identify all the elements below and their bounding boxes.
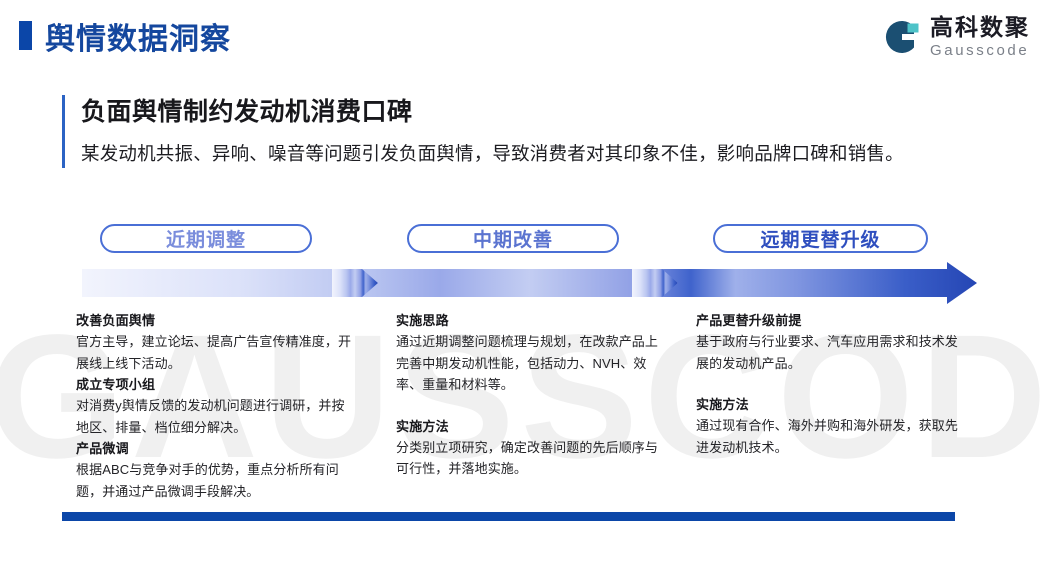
content-section: 实施方法 分类别立项研究，确定改善问题的先后顺序与可行性，并落地实施。: [396, 416, 658, 480]
stage-content-column-mid-term: 实施思路 通过近期调整问题梳理与规划，在改款产品上完善中期发动机性能，包括动力、…: [396, 310, 658, 480]
stage-pill-mid-term[interactable]: 中期改善: [407, 224, 619, 253]
section-body: 官方主导，建立论坛、提高广告宣传精准度，开展线上线下活动。: [76, 331, 354, 374]
footer-accent-bar: [62, 512, 955, 521]
content-section: 改善负面舆情 官方主导，建立论坛、提高广告宣传精准度，开展线上线下活动。: [76, 310, 354, 374]
stage-pill-label: 中期改善: [473, 225, 553, 252]
stage-content-column-near-term: 改善负面舆情 官方主导，建立论坛、提高广告宣传精准度，开展线上线下活动。 成立专…: [76, 310, 354, 502]
section-title: 实施方法: [396, 416, 658, 437]
content-section: 产品更替升级前提 基于政府与行业要求、汽车应用需求和技术发展的发动机产品。: [696, 310, 958, 374]
page-title: 舆情数据洞察: [45, 14, 231, 58]
section-title: 实施思路: [396, 310, 658, 331]
intro-block: 负面舆情制约发动机消费口碑 某发动机共振、异响、噪音等问题引发负面舆情，导致消费…: [62, 95, 962, 168]
section-body: 通过现有合作、海外并购和海外研发，获取先进发动机技术。: [696, 415, 958, 458]
stage-pill-near-term[interactable]: 近期调整: [100, 224, 312, 253]
stage-pill-long-term[interactable]: 远期更替升级: [713, 224, 928, 253]
section-body: 对消费y舆情反馈的发动机问题进行调研，并按地区、排量、档位细分解决。: [76, 395, 354, 438]
section-title: 成立专项小组: [76, 374, 354, 395]
content-section: 成立专项小组 对消费y舆情反馈的发动机问题进行调研，并按地区、排量、档位细分解决…: [76, 374, 354, 438]
content-section: 产品微调 根据ABC与竞争对手的优势，重点分析所有问题，并通过产品微调手段解决。: [76, 438, 354, 502]
section-title: 产品更替升级前提: [696, 310, 958, 331]
content-section: 实施思路 通过近期调整问题梳理与规划，在改款产品上完善中期发动机性能，包括动力、…: [396, 310, 658, 396]
section-body: 通过近期调整问题梳理与规划，在改款产品上完善中期发动机性能，包括动力、NVH、效…: [396, 331, 658, 396]
content-section: 实施方法 通过现有合作、海外并购和海外研发，获取先进发动机技术。: [696, 394, 958, 458]
page-header: 舆情数据洞察 高科数聚 Gausscode: [0, 0, 1050, 72]
section-body: 基于政府与行业要求、汽车应用需求和技术发展的发动机产品。: [696, 331, 958, 374]
gausscode-logo-icon: [881, 17, 921, 57]
timeline-arrow: [82, 262, 977, 304]
logo-english-name: Gausscode: [930, 43, 1030, 58]
intro-description: 某发动机共振、异响、噪音等问题引发负面舆情，导致消费者对其印象不佳，影响品牌口碑…: [81, 140, 962, 168]
section-title: 产品微调: [76, 438, 354, 459]
header-accent-bar-icon: [19, 21, 32, 50]
intro-headline: 负面舆情制约发动机消费口碑: [81, 95, 962, 129]
section-title: 实施方法: [696, 394, 958, 415]
section-title: 改善负面舆情: [76, 310, 354, 331]
stage-pill-label: 近期调整: [166, 225, 246, 252]
brand-logo: 高科数聚 Gausscode: [881, 14, 1030, 60]
stage-content-column-long-term: 产品更替升级前提 基于政府与行业要求、汽车应用需求和技术发展的发动机产品。 实施…: [696, 310, 958, 458]
logo-chinese-name: 高科数聚: [930, 16, 1030, 39]
logo-wordmark: 高科数聚 Gausscode: [930, 16, 1030, 58]
stage-pill-label: 远期更替升级: [760, 225, 880, 252]
section-body: 根据ABC与竞争对手的优势，重点分析所有问题，并通过产品微调手段解决。: [76, 459, 354, 502]
section-body: 分类别立项研究，确定改善问题的先后顺序与可行性，并落地实施。: [396, 437, 658, 480]
